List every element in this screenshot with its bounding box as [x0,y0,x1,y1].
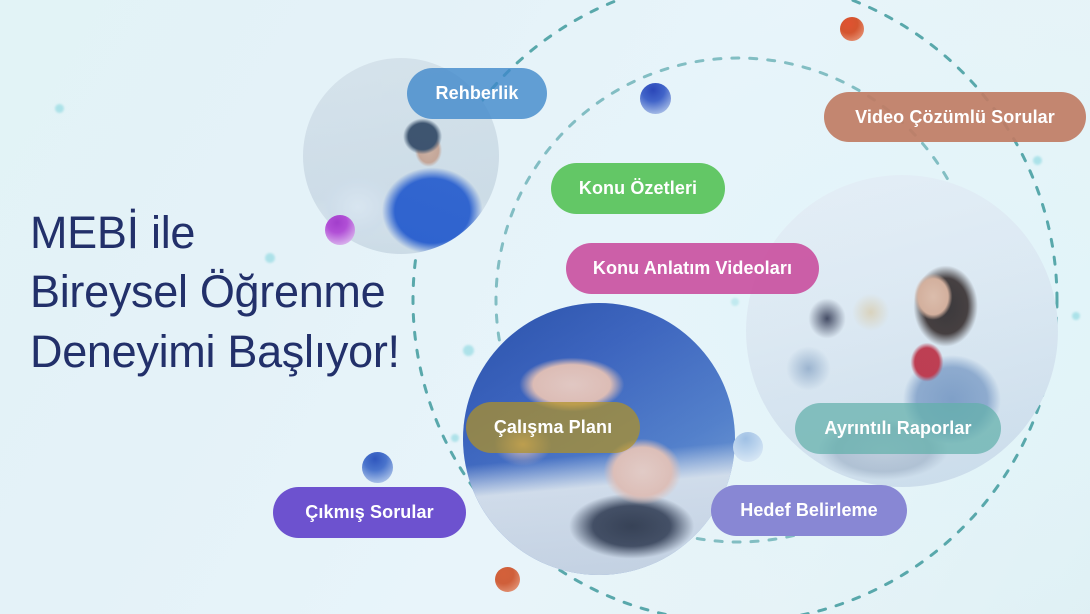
feature-pill-calisma-plani[interactable]: Çalışma Planı [466,402,640,453]
accent-dot-orange-top [840,17,864,41]
speck-dot [1033,156,1042,165]
promo-banner: MEBİ ile Bireysel Öğrenme Deneyimi Başlı… [0,0,1090,614]
feature-pill-video-cozumlu-sorular[interactable]: Video Çözümlü Sorular [824,92,1086,142]
accent-dot-blue-bottom [362,452,393,483]
feature-pill-hedef-belirleme[interactable]: Hedef Belirleme [711,485,907,536]
accent-dot-orange-bottom [495,567,520,592]
accent-dot-purple [325,215,355,245]
feature-pill-cikmis-sorular[interactable]: Çıkmış Sorular [273,487,466,538]
feature-pill-konu-ozetleri[interactable]: Konu Özetleri [551,163,725,214]
page-title: MEBİ ile Bireysel Öğrenme Deneyimi Başlı… [30,203,500,381]
speck-dot [451,434,459,442]
speck-dot [1072,312,1080,320]
feature-pill-ayrintili-raporlar[interactable]: Ayrıntılı Raporlar [795,403,1001,454]
feature-pill-konu-anlatim-videolari[interactable]: Konu Anlatım Videoları [566,243,819,294]
feature-pill-rehberlik[interactable]: Rehberlik [407,68,547,119]
accent-dot-blue-middle [733,432,763,462]
accent-dot-blue-top [640,83,671,114]
speck-dot [55,104,64,113]
